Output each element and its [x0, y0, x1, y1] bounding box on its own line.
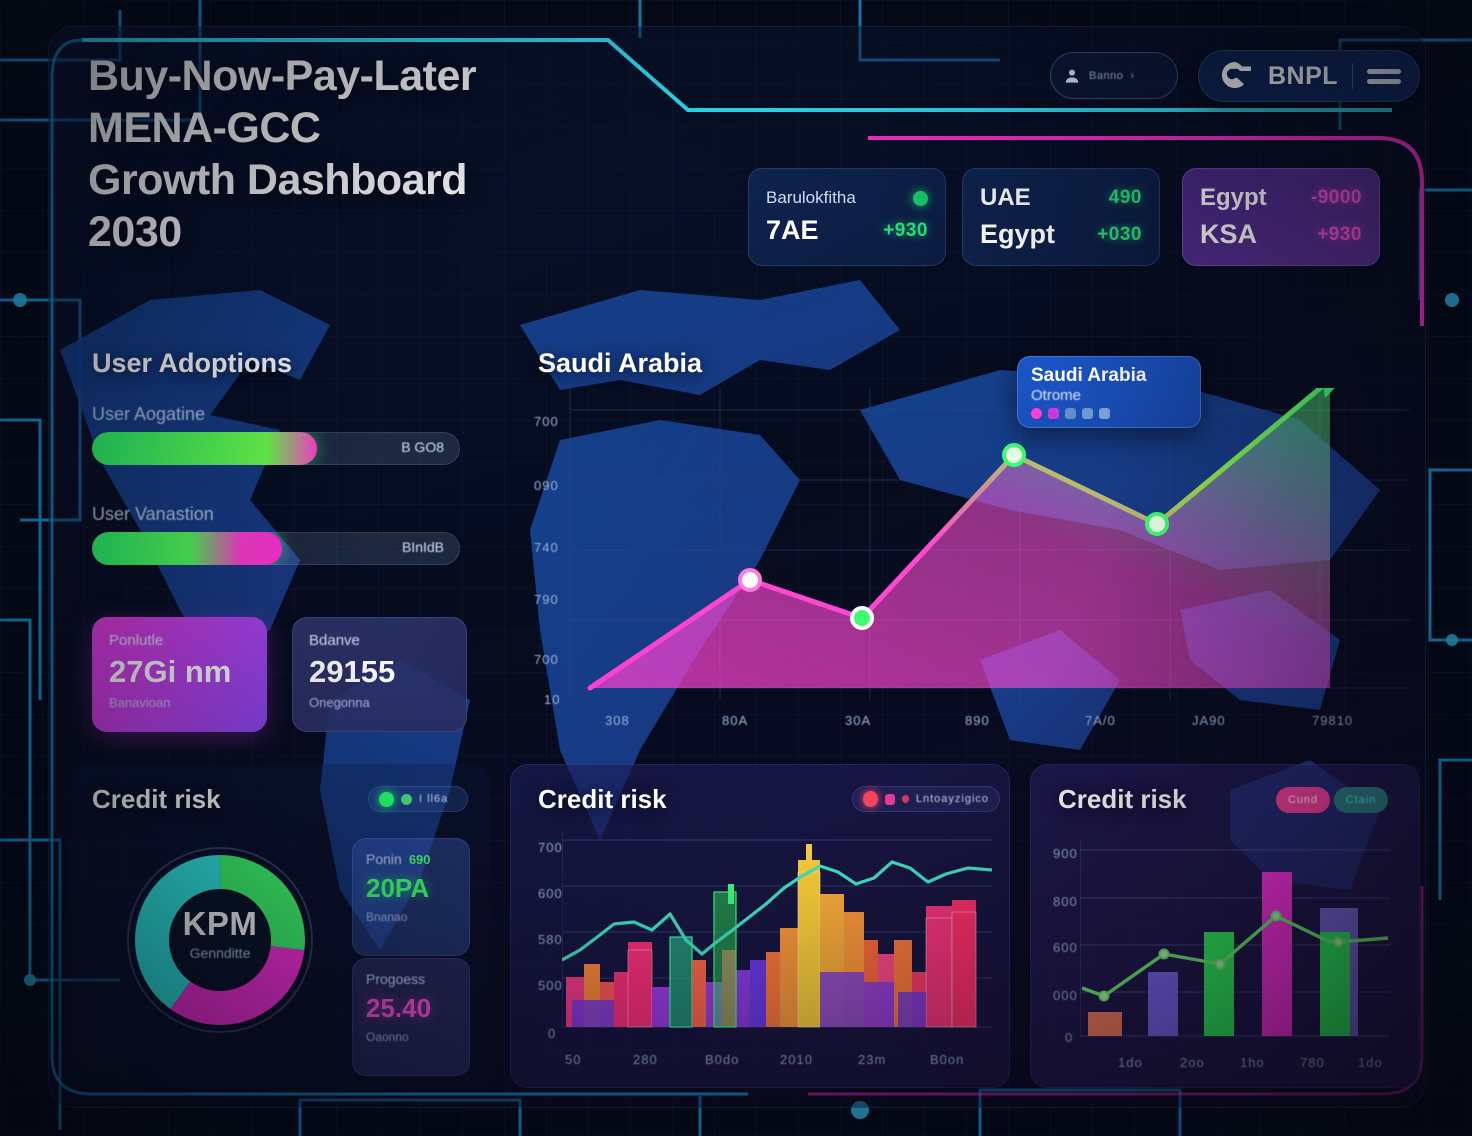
kpi-card-3[interactable]: Egypt -9000 KSA +930 [1182, 168, 1380, 266]
combo-y-tick-3: 000 [1053, 988, 1078, 1003]
skyline-y-tick-2: 580 [538, 932, 563, 947]
skyline-x-tick-3: 2010 [780, 1052, 813, 1067]
kpi-card-1[interactable]: Barulokfitha 7AE +930 [748, 168, 946, 266]
skyline-y-tick-4: 0 [548, 1026, 556, 1041]
tooltip-chip-1 [1031, 408, 1042, 419]
kpi-2-label: UAE [980, 184, 1031, 212]
adoption-bar-1-value: B GO8 [401, 439, 444, 455]
panel-1-legend-label: I ll6a [419, 793, 448, 805]
skyline-x-tick-2: B0do [705, 1052, 739, 1067]
panel-2-legend-label: Lntoayzigico [916, 793, 989, 805]
line-x-tick-5: JA90 [1192, 713, 1226, 728]
line-y-tick-5: 10 [544, 692, 560, 707]
combo-x-tick-4: 1do [1358, 1055, 1383, 1070]
adoption-bar-1-fill [92, 432, 317, 465]
title-line-2: MENA-GCC [88, 102, 728, 154]
legend-dot-red [863, 791, 878, 807]
line-y-tick-1: 090 [534, 478, 559, 493]
line-chart-title: Saudi Arabia [538, 348, 702, 379]
dashboard-root: Buy-Now-Pay-Later MENA-GCC Growth Dashbo… [0, 0, 1472, 1136]
metric-tile-1-label: Ponlutle [109, 632, 250, 649]
metric-tile-1-value: 27Gi nm [109, 654, 250, 690]
combo-y-tick-4: 0 [1065, 1030, 1073, 1045]
adoption-bar-2-fill [92, 532, 282, 565]
tooltip-chip-5 [1099, 408, 1110, 419]
combo-x-tick-3: 780 [1300, 1055, 1325, 1070]
skyline-x-tick-4: 23m [858, 1052, 886, 1067]
panel-3-legend-pill-1[interactable]: Cund [1276, 787, 1330, 813]
kpi-2-label-value: 490 [1109, 187, 1142, 209]
panel-2-legend[interactable]: Lntoayzigico [852, 786, 1000, 812]
tooltip-chip-2 [1048, 408, 1059, 419]
skyline-y-tick-1: 600 [538, 886, 563, 901]
adoption-bar-2-label: User Vanastion [92, 504, 214, 525]
mini-card-1-label-value: 690 [409, 852, 431, 867]
donut-center: KPM Gennditte [136, 905, 304, 961]
line-x-tick-4: 7A/0 [1085, 713, 1116, 728]
combo-x-tick-0: 1do [1118, 1055, 1143, 1070]
title-line-1: Buy-Now-Pay-Later [88, 50, 728, 102]
line-chart[interactable] [530, 388, 1410, 738]
panel-2-title: Credit risk [538, 784, 667, 815]
legend-dot-crimson [902, 795, 909, 803]
chevron-right-icon: › [1130, 70, 1134, 82]
line-y-tick-3: 790 [534, 592, 559, 607]
mini-card-1-label: Ponin [366, 851, 402, 867]
credit-risk-combo-chart[interactable] [1080, 840, 1390, 1045]
line-y-tick-0: 700 [534, 414, 559, 429]
line-x-tick-1: 80A [722, 713, 748, 728]
line-y-tick-2: 740 [534, 540, 559, 555]
status-dot-icon [913, 191, 928, 206]
legend-dot-green-lg [379, 792, 394, 807]
line-y-tick-4: 700 [534, 652, 559, 667]
panel-3-title: Credit risk [1058, 784, 1187, 815]
panel-3-legend-1-label: Cund [1288, 794, 1318, 806]
donut-center-sublabel: Gennditte [136, 945, 304, 961]
user-account-pill[interactable]: Banno › [1050, 52, 1178, 99]
metric-tile-2-label: Bdanve [309, 632, 450, 649]
tooltip-subtitle: Otrome [1031, 387, 1187, 404]
hamburger-menu-icon[interactable] [1367, 64, 1401, 89]
bnpl-logo-icon [1216, 59, 1254, 93]
skyline-y-tick-0: 700 [538, 840, 563, 855]
tooltip-chip-4 [1082, 408, 1093, 419]
adoption-bar-2-track[interactable]: BInIdB [92, 532, 460, 565]
legend-dot-pink [885, 794, 895, 805]
panel-1-legend[interactable]: I ll6a [368, 786, 468, 812]
kpi-3-label-value: -9000 [1311, 187, 1362, 209]
title-line-4: 2030 [88, 206, 728, 258]
combo-y-tick-2: 600 [1053, 940, 1078, 955]
kpi-3-label: Egypt [1200, 184, 1267, 212]
combo-x-tick-1: 2oo [1180, 1055, 1205, 1070]
adoption-bar-1-track[interactable]: B GO8 [92, 432, 460, 465]
adoption-section-title: User Adoptions [92, 348, 292, 379]
user-pill-label: Banno [1089, 70, 1123, 82]
metric-tile-2-sub: Onegonna [309, 695, 450, 710]
line-x-tick-3: 890 [965, 713, 990, 728]
metric-tile-1-sub: Banavioan [109, 695, 250, 710]
credit-risk-skyline-chart[interactable] [562, 832, 992, 1042]
mini-card-2-sub: Oaonno [366, 1030, 456, 1044]
tooltip-chip-3 [1065, 408, 1076, 419]
mini-card-1-value: 20PA [366, 873, 456, 904]
skyline-x-tick-1: 280 [633, 1052, 658, 1067]
divider [1352, 63, 1353, 89]
panel-1-mini-card-2[interactable]: Progoess 25.40 Oaonno [352, 958, 470, 1076]
skyline-x-tick-0: 50 [565, 1052, 581, 1067]
combo-y-tick-0: 900 [1053, 846, 1078, 861]
metric-tile-2[interactable]: Bdanve 29155 Onegonna [292, 617, 467, 732]
kpi-card-2[interactable]: UAE 490 Egypt +030 [962, 168, 1160, 266]
combo-y-tick-1: 800 [1053, 894, 1078, 909]
metric-tile-2-value: 29155 [309, 654, 450, 690]
kpi-1-value: 7AE [766, 215, 819, 246]
brand-badge[interactable]: BNPL [1198, 50, 1420, 102]
donut-center-label: KPM [136, 905, 304, 943]
user-icon [1062, 66, 1082, 86]
kpi-2-delta: +030 [1097, 224, 1142, 246]
kpi-2-value: Egypt [980, 219, 1055, 250]
title-line-3: Growth Dashboard [88, 154, 728, 206]
legend-dot-green-sm [401, 794, 412, 805]
line-x-tick-2: 30A [845, 713, 871, 728]
page-title: Buy-Now-Pay-Later MENA-GCC Growth Dashbo… [88, 50, 728, 258]
panel-1-title: Credit risk [92, 784, 221, 815]
mini-card-1-sub: Bnanao [366, 910, 456, 924]
line-x-tick-0: 308 [605, 713, 630, 728]
panel-1-mini-card-1[interactable]: Ponin 690 20PA Bnanao [352, 838, 470, 956]
brand-label: BNPL [1268, 62, 1338, 91]
skyline-y-tick-3: 500 [538, 978, 563, 993]
tooltip-chips [1031, 408, 1187, 419]
panel-3-legend-pill-2[interactable]: Ctain [1334, 787, 1388, 813]
tooltip-title: Saudi Arabia [1031, 365, 1187, 387]
kpi-1-label: Barulokfitha [766, 188, 856, 208]
kpi-3-value: KSA [1200, 219, 1257, 250]
skyline-x-tick-5: B0on [930, 1052, 964, 1067]
kpi-1-delta: +930 [883, 220, 928, 242]
combo-x-tick-2: 1ho [1240, 1055, 1265, 1070]
line-x-tick-6: 79810 [1312, 713, 1353, 728]
kpi-3-delta: +930 [1317, 224, 1362, 246]
panel-3-legend-2-label: Ctain [1346, 794, 1377, 806]
adoption-bar-1-label: User Aogatine [92, 404, 205, 425]
mini-card-2-label: Progoess [366, 971, 456, 987]
mini-card-2-value: 25.40 [366, 993, 456, 1024]
adoption-bar-2-value: BInIdB [402, 539, 444, 555]
metric-tile-1[interactable]: Ponlutle 27Gi nm Banavioan [92, 617, 267, 732]
line-chart-tooltip: Saudi Arabia Otrome [1017, 356, 1201, 428]
